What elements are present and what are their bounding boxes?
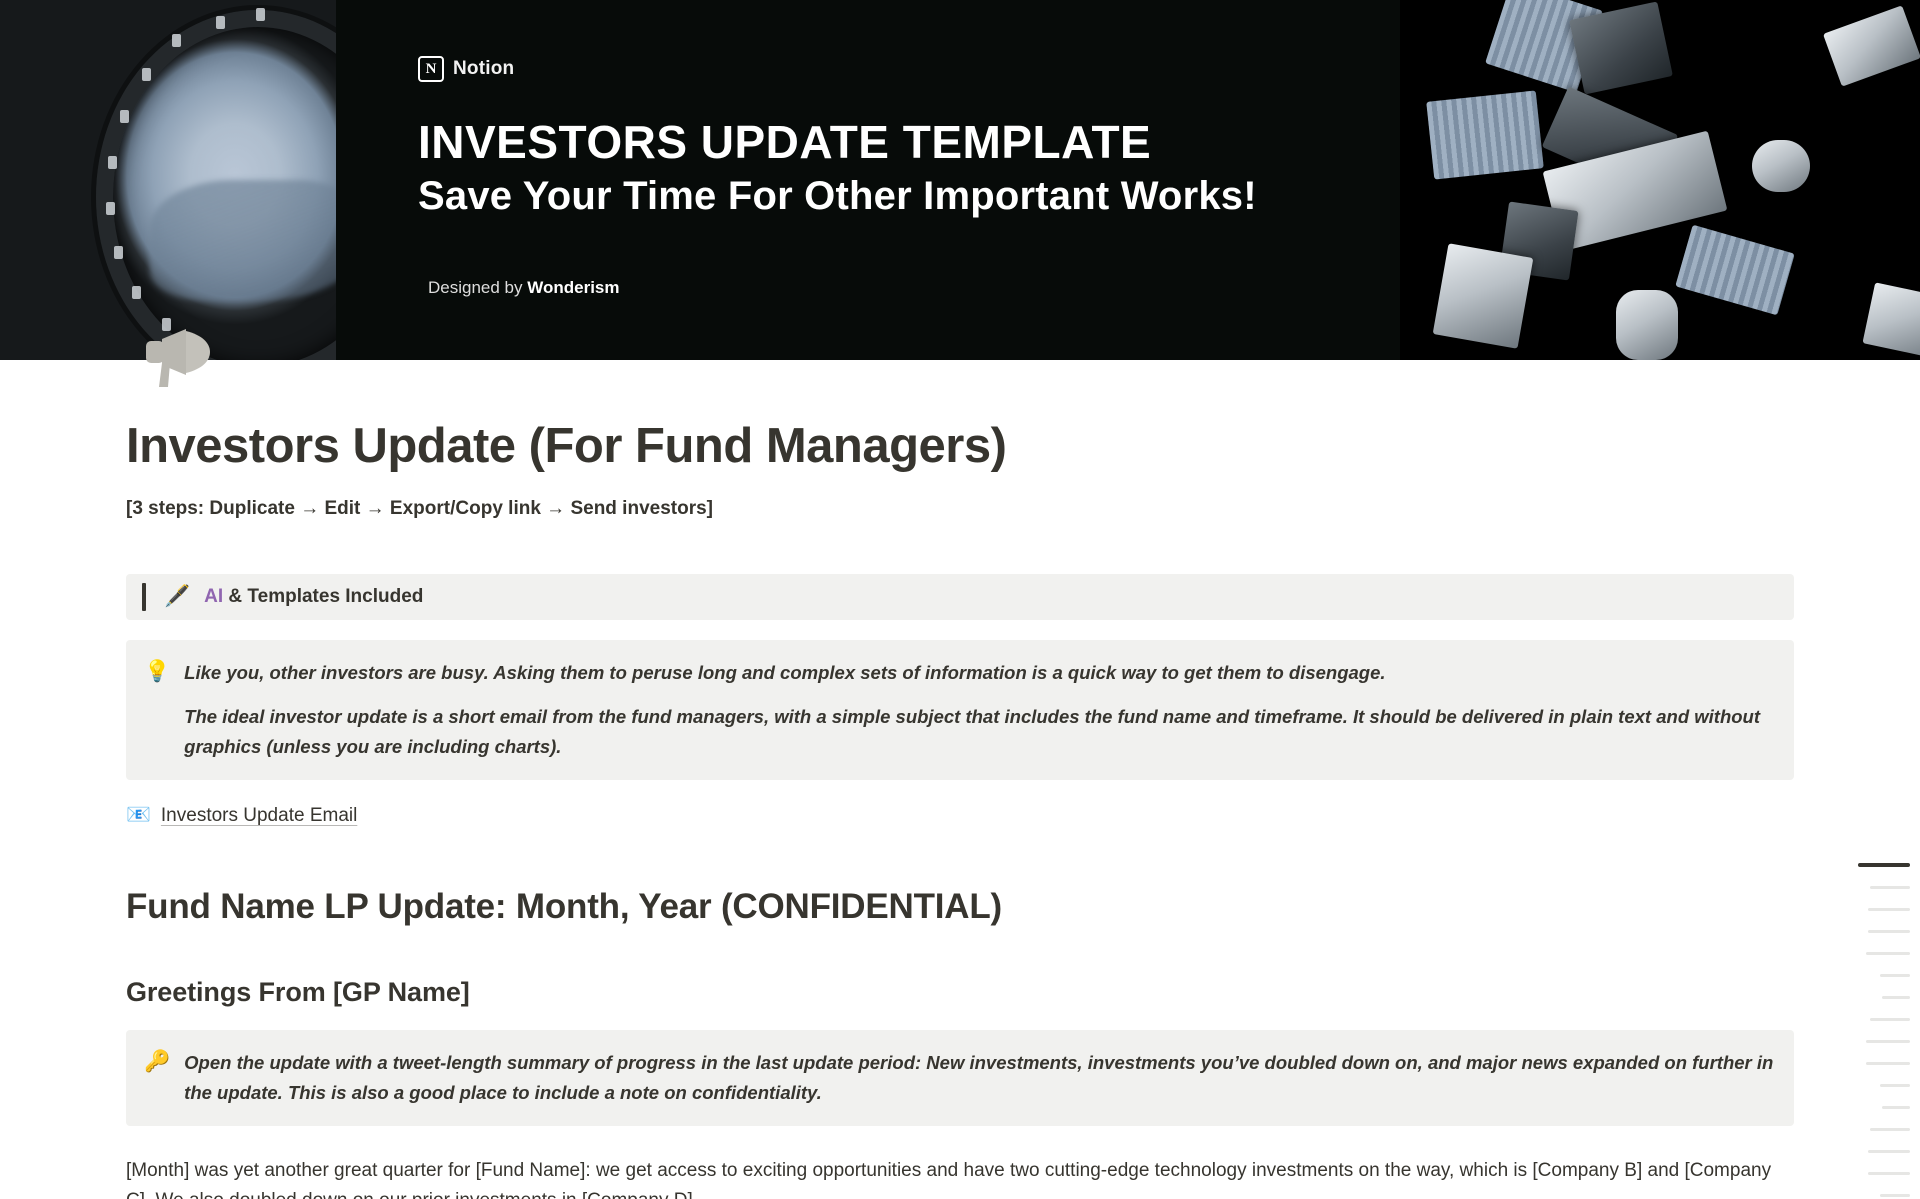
toc-mark bbox=[1868, 908, 1910, 911]
callout-key-paragraph: Open the update with a tweet-length summ… bbox=[184, 1048, 1776, 1108]
iss-modules-photo bbox=[1400, 0, 1920, 360]
toc-item[interactable] bbox=[1870, 1118, 1910, 1140]
callout-tip-body: Like you, other investors are busy. Aski… bbox=[184, 658, 1776, 762]
notion-logo: N Notion bbox=[418, 56, 1257, 82]
ai-label: AI bbox=[204, 586, 223, 607]
toc-item[interactable] bbox=[1880, 1074, 1910, 1096]
lightbulb-icon: 💡 bbox=[144, 658, 170, 686]
callout-tip-paragraph: Like you, other investors are busy. Aski… bbox=[184, 658, 1776, 688]
toc-item[interactable] bbox=[1868, 1140, 1910, 1162]
megaphone-icon[interactable] bbox=[140, 325, 218, 387]
page-content: Investors Update (For Fund Managers) [3 … bbox=[0, 418, 1920, 1199]
table-of-contents-minimap[interactable] bbox=[1834, 854, 1910, 1199]
callout-ai-templates[interactable]: 🖋️ AI & Templates Included bbox=[126, 574, 1794, 620]
investors-update-email-label[interactable]: Investors Update Email bbox=[161, 805, 357, 827]
callout-tip[interactable]: 💡 Like you, other investors are busy. As… bbox=[126, 640, 1794, 780]
toc-mark bbox=[1880, 1194, 1910, 1197]
ai-rest-label: & Templates Included bbox=[223, 586, 423, 607]
callout-ai-text: AI & Templates Included bbox=[204, 586, 423, 608]
banner-credit: Designed by Wonderism bbox=[428, 278, 620, 298]
toc-item[interactable] bbox=[1870, 1008, 1910, 1030]
banner-subheadline: Save Your Time For Other Important Works… bbox=[418, 174, 1257, 219]
toc-mark bbox=[1880, 1084, 1910, 1087]
toc-mark bbox=[1868, 1172, 1910, 1175]
toc-mark bbox=[1868, 1150, 1910, 1153]
toc-mark bbox=[1870, 1018, 1910, 1021]
toc-mark bbox=[1866, 1040, 1910, 1043]
toc-item[interactable] bbox=[1882, 986, 1910, 1008]
toc-mark bbox=[1870, 886, 1910, 889]
toc-item[interactable] bbox=[1866, 1030, 1910, 1052]
toc-mark-active bbox=[1858, 863, 1910, 867]
toc-item[interactable] bbox=[1866, 1052, 1910, 1074]
banner-credit-prefix: Designed by bbox=[428, 278, 527, 297]
callout-tip-paragraph: The ideal investor update is a short ema… bbox=[184, 702, 1776, 762]
toc-item[interactable] bbox=[1880, 964, 1910, 986]
callout-key-body: Open the update with a tweet-length summ… bbox=[184, 1048, 1776, 1108]
page-subtitle[interactable]: [3 steps: Duplicate → Edit → Export/Copy… bbox=[126, 495, 1794, 524]
heading-greetings[interactable]: Greetings From [GP Name] bbox=[126, 977, 1794, 1008]
toc-mark bbox=[1882, 996, 1910, 999]
toc-mark bbox=[1866, 952, 1910, 955]
page-cover-banner[interactable]: N Notion INVESTORS UPDATE TEMPLATE Save … bbox=[0, 0, 1920, 360]
toc-mark bbox=[1870, 1128, 1910, 1131]
toc-item[interactable] bbox=[1880, 1184, 1910, 1199]
banner-title-block: N Notion INVESTORS UPDATE TEMPLATE Save … bbox=[418, 56, 1257, 218]
toc-mark bbox=[1880, 974, 1910, 977]
toc-mark bbox=[1868, 930, 1910, 933]
toc-item[interactable] bbox=[1868, 920, 1910, 942]
notion-logo-icon: N bbox=[418, 56, 444, 82]
toc-mark bbox=[1882, 1106, 1910, 1109]
toc-item[interactable] bbox=[1882, 1096, 1910, 1118]
banner-credit-author: Wonderism bbox=[527, 278, 619, 297]
callout-key-tip[interactable]: 🔑 Open the update with a tweet-length su… bbox=[126, 1030, 1794, 1126]
toc-item[interactable] bbox=[1858, 854, 1910, 876]
investors-update-email-link[interactable]: 📧 Investors Update Email bbox=[126, 802, 1794, 829]
key-icon: 🔑 bbox=[144, 1048, 170, 1108]
banner-headline: INVESTORS UPDATE TEMPLATE bbox=[418, 118, 1257, 168]
toc-item[interactable] bbox=[1870, 876, 1910, 898]
toc-item[interactable] bbox=[1866, 942, 1910, 964]
toc-item[interactable] bbox=[1868, 1162, 1910, 1184]
callout-left-bar bbox=[142, 583, 146, 611]
toc-item[interactable] bbox=[1868, 898, 1910, 920]
iss-cupola-window-photo bbox=[0, 0, 336, 360]
toc-mark bbox=[1866, 1062, 1910, 1065]
notion-logo-label: Notion bbox=[453, 58, 514, 80]
page-title[interactable]: Investors Update (For Fund Managers) bbox=[126, 418, 1794, 474]
heading-fund-update[interactable]: Fund Name LP Update: Month, Year (CONFID… bbox=[126, 887, 1794, 927]
envelope-icon: 📧 bbox=[126, 802, 151, 829]
window-rivets bbox=[96, 10, 336, 350]
pen-icon: 🖋️ bbox=[164, 583, 190, 611]
body-paragraph[interactable]: [Month] was yet another great quarter fo… bbox=[126, 1156, 1794, 1199]
